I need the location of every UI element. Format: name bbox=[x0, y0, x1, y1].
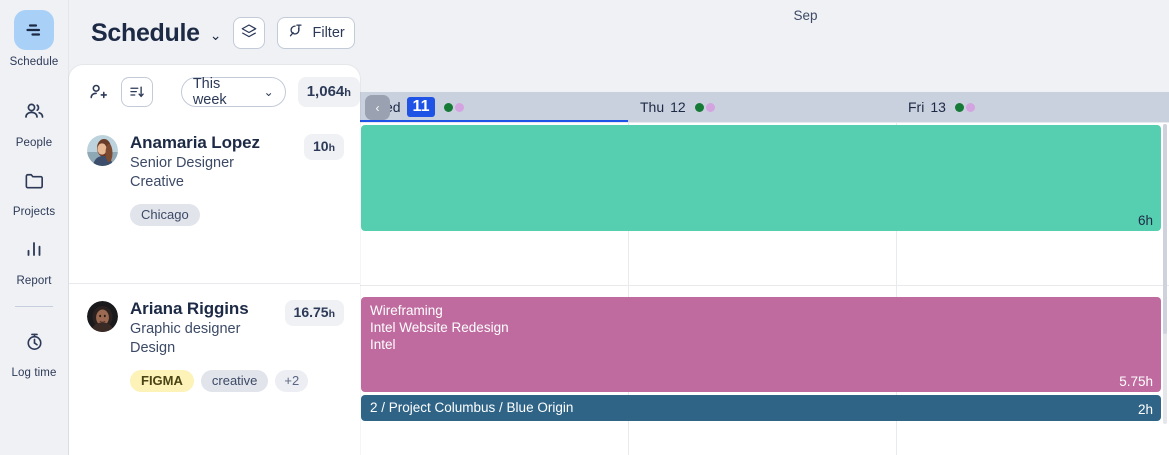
people-panel-toolbar: This week ⌄ 1,064 h bbox=[69, 65, 360, 118]
block-line-1: Wireframing bbox=[370, 302, 1152, 319]
rail-divider bbox=[15, 306, 53, 307]
sidebar-label-log-time: Log time bbox=[12, 366, 57, 380]
chevron-down-icon[interactable]: ⌄ bbox=[210, 27, 222, 44]
sidebar-item-schedule[interactable]: Schedule bbox=[0, 10, 69, 69]
person-name: Ariana Riggins bbox=[130, 298, 285, 320]
person-team: Design bbox=[130, 339, 285, 358]
day-label: Fri bbox=[908, 99, 924, 115]
sidebar-label-report: Report bbox=[16, 274, 51, 288]
sidebar-label-schedule: Schedule bbox=[10, 55, 59, 69]
people-panel: This week ⌄ 1,064 h bbox=[69, 65, 360, 455]
person-tags: FIGMA creative +2 bbox=[130, 370, 344, 392]
primary-nav-rail: Schedule People Projects bbox=[0, 0, 69, 455]
person-team: Creative bbox=[130, 173, 304, 192]
sidebar-label-people: People bbox=[16, 136, 52, 150]
day-number: 12 bbox=[670, 99, 686, 115]
layers-icon bbox=[240, 22, 258, 45]
status-dot-green bbox=[695, 103, 704, 112]
sidebar-item-people[interactable]: People bbox=[0, 91, 69, 150]
person-role: Senior Designer bbox=[130, 154, 304, 173]
person-info: Ariana Riggins Graphic designer Design bbox=[130, 298, 285, 358]
status-dot-purple bbox=[455, 103, 464, 112]
status-dot-purple bbox=[706, 103, 715, 112]
day-number: 13 bbox=[930, 99, 946, 115]
chevron-down-icon: ⌄ bbox=[264, 85, 274, 99]
filter-label: Filter bbox=[312, 25, 344, 41]
tag-chip[interactable]: Chicago bbox=[130, 204, 200, 226]
page-title: Schedule bbox=[91, 19, 200, 48]
schedule-block-teal[interactable]: 6h bbox=[361, 125, 1161, 231]
schedule-app: Schedule People Projects bbox=[0, 0, 1169, 455]
sort-button[interactable] bbox=[121, 77, 153, 107]
status-dot-green bbox=[955, 103, 964, 112]
day-column-header-wed[interactable]: Wed 11 bbox=[360, 92, 628, 122]
person-role: Graphic designer bbox=[130, 320, 285, 339]
month-strip: Sep bbox=[360, 0, 1169, 31]
block-hours: 2h bbox=[1138, 402, 1153, 417]
vertical-scrollbar[interactable] bbox=[1163, 124, 1167, 424]
avatar bbox=[87, 301, 118, 332]
folder-icon bbox=[14, 160, 54, 200]
person-tags: Chicago bbox=[130, 204, 344, 226]
sidebar-item-log-time[interactable]: Log time bbox=[0, 321, 69, 380]
tag-chip-figma[interactable]: FIGMA bbox=[130, 370, 194, 392]
row-divider bbox=[360, 285, 1169, 286]
block-line-2: Intel Website Redesign bbox=[370, 319, 1152, 336]
person-hours-unit: h bbox=[329, 308, 335, 320]
person-hours-value: 10 bbox=[313, 138, 329, 154]
week-range-select[interactable]: This week ⌄ bbox=[181, 77, 286, 107]
day-dots bbox=[955, 103, 975, 112]
day-dots bbox=[695, 103, 715, 112]
person-name: Anamaria Lopez bbox=[130, 132, 304, 154]
day-column-header-thu[interactable]: Thu 12 bbox=[628, 92, 896, 122]
status-dot-purple bbox=[966, 103, 975, 112]
day-label: Thu bbox=[640, 99, 664, 115]
scrollbar-thumb[interactable] bbox=[1163, 124, 1167, 334]
person-info: Anamaria Lopez Senior Designer Creative bbox=[130, 132, 304, 192]
stopwatch-icon bbox=[14, 321, 54, 361]
person-header: Ariana Riggins Graphic designer Design 1… bbox=[87, 298, 344, 358]
person-hours-badge: 10 h bbox=[304, 134, 344, 160]
filter-button[interactable]: Filter bbox=[277, 17, 354, 49]
chevron-left-icon: ‹ bbox=[376, 101, 380, 115]
day-number: 11 bbox=[407, 97, 436, 117]
sidebar-label-projects: Projects bbox=[13, 205, 55, 219]
block-line-3: Intel bbox=[370, 336, 1152, 353]
sidebar-item-report[interactable]: Report bbox=[0, 229, 69, 288]
month-label: Sep bbox=[793, 8, 817, 23]
sidebar-item-projects[interactable]: Projects bbox=[0, 160, 69, 219]
day-column-header-fri[interactable]: Fri 13 bbox=[896, 92, 1169, 122]
schedule-block-wireframing[interactable]: Wireframing Intel Website Redesign Intel… bbox=[361, 297, 1161, 392]
tag-chip-more[interactable]: +2 bbox=[275, 370, 308, 392]
person-hours-unit: h bbox=[329, 142, 335, 154]
add-person-button[interactable] bbox=[87, 81, 109, 103]
previous-week-button[interactable]: ‹ bbox=[365, 95, 390, 120]
row-divider bbox=[360, 122, 1169, 123]
days-header: Wed 11 Thu 12 Fri 13 bbox=[360, 92, 1169, 122]
people-icon bbox=[14, 91, 54, 131]
block-hours: 5.75h bbox=[1119, 374, 1153, 389]
person-hours-badge: 16.75 h bbox=[285, 300, 344, 326]
timeline-grid: 6h Wireframing Intel Website Redesign In… bbox=[360, 122, 1169, 455]
day-dots bbox=[444, 103, 464, 112]
person-hours-value: 16.75 bbox=[294, 304, 329, 320]
schedule-block-columbus[interactable]: 2 / Project Columbus / Blue Origin 2h bbox=[361, 395, 1161, 421]
schedule-timeline: Sep Wed 11 Thu 12 Fri bbox=[360, 0, 1169, 455]
filter-search-icon bbox=[287, 22, 305, 45]
schedule-icon bbox=[14, 10, 54, 50]
list-item[interactable]: Anamaria Lopez Senior Designer Creative … bbox=[69, 118, 360, 283]
layers-button[interactable] bbox=[233, 17, 265, 49]
person-header: Anamaria Lopez Senior Designer Creative … bbox=[87, 132, 344, 192]
list-item[interactable]: Ariana Riggins Graphic designer Design 1… bbox=[69, 283, 360, 448]
total-hours-value: 1,064 bbox=[307, 77, 345, 107]
block-line-1: 2 / Project Columbus / Blue Origin bbox=[370, 399, 1152, 416]
bar-chart-icon bbox=[14, 229, 54, 269]
total-hours-badge: 1,064 h bbox=[298, 77, 360, 107]
status-dot-green bbox=[444, 103, 453, 112]
total-hours-unit: h bbox=[344, 87, 351, 99]
avatar bbox=[87, 135, 118, 166]
tag-chip-creative[interactable]: creative bbox=[201, 370, 269, 392]
week-range-label: This week bbox=[193, 76, 258, 108]
block-hours: 6h bbox=[1138, 213, 1153, 228]
